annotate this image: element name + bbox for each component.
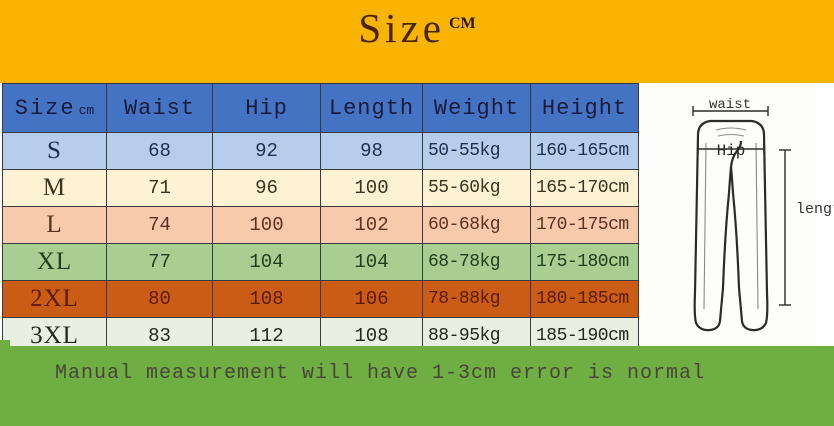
cell-weight: 50-55kg	[423, 133, 531, 170]
table-row: 2XL 80 108 106 78-88kg 180-185cm	[3, 281, 639, 318]
table-row: M 71 96 100 55-60kg 165-170cm	[3, 170, 639, 207]
hip-label: Hip	[717, 142, 746, 160]
cell-length: 98	[321, 133, 423, 170]
cell-weight: 60-68kg	[423, 207, 531, 244]
size-chart-page: SizeCM waist	[0, 0, 834, 426]
table-row: L 74 100 102 60-68kg 170-175cm	[3, 207, 639, 244]
cell-waist: 68	[107, 133, 213, 170]
column-header-size-unit: cm	[79, 103, 95, 118]
header-band: SizeCM	[0, 0, 834, 83]
cell-weight: 68-78kg	[423, 244, 531, 281]
page-title-unit: CM	[449, 15, 476, 32]
cell-length: 100	[321, 170, 423, 207]
cell-waist: 80	[107, 281, 213, 318]
cell-height: 175-180cm	[531, 244, 639, 281]
waist-label: waist	[709, 97, 751, 113]
cell-waist: 74	[107, 207, 213, 244]
cell-size: XL	[3, 244, 107, 281]
cell-height: 180-185cm	[531, 281, 639, 318]
cell-waist: 71	[107, 170, 213, 207]
column-header-weight: Weight	[423, 84, 531, 133]
cell-size: L	[3, 207, 107, 244]
cell-length: 104	[321, 244, 423, 281]
length-label: length	[796, 201, 834, 218]
column-header-size: Sizecm	[3, 84, 107, 133]
cell-hip: 104	[213, 244, 321, 281]
page-title: SizeCM	[0, 4, 834, 52]
cell-length: 106	[321, 281, 423, 318]
cell-size: 2XL	[3, 281, 107, 318]
pants-diagram-panel: waist	[640, 83, 834, 346]
cell-hip: 108	[213, 281, 321, 318]
cell-weight: 78-88kg	[423, 281, 531, 318]
page-title-text: Size	[358, 5, 445, 51]
cell-weight: 55-60kg	[423, 170, 531, 207]
table-row: XL 77 104 104 68-78kg 175-180cm	[3, 244, 639, 281]
cell-hip: 96	[213, 170, 321, 207]
cell-size: S	[3, 133, 107, 170]
cell-height: 160-165cm	[531, 133, 639, 170]
cell-length: 102	[321, 207, 423, 244]
column-header-hip: Hip	[213, 84, 321, 133]
cell-hip: 100	[213, 207, 321, 244]
cell-height: 165-170cm	[531, 170, 639, 207]
size-chart-table: Sizecm Waist Hip Length Weight Height S …	[2, 83, 639, 355]
cell-waist: 77	[107, 244, 213, 281]
cell-height: 170-175cm	[531, 207, 639, 244]
pants-illustration: waist	[640, 83, 834, 346]
column-header-waist: Waist	[107, 84, 213, 133]
column-header-size-label: Size	[15, 96, 76, 121]
measurement-note: Manual measurement will have 1-3cm error…	[50, 362, 710, 385]
column-header-length: Length	[321, 84, 423, 133]
length-dimension-line	[779, 150, 791, 305]
cell-size: M	[3, 170, 107, 207]
footer-band: Manual measurement will have 1-3cm error…	[0, 346, 834, 426]
table-header-row: Sizecm Waist Hip Length Weight Height	[3, 84, 639, 133]
table-row: S 68 92 98 50-55kg 160-165cm	[3, 133, 639, 170]
column-header-height: Height	[531, 84, 639, 133]
cell-hip: 92	[213, 133, 321, 170]
